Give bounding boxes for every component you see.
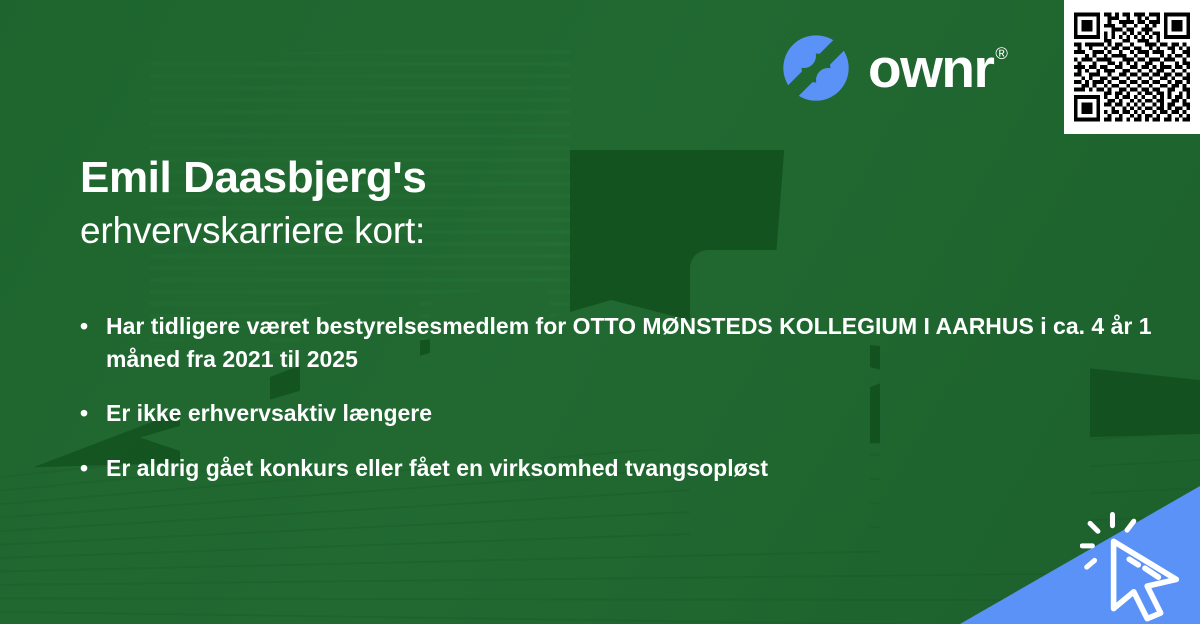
ownr-circular-swirl-logo-icon: [778, 30, 854, 106]
list-item: Er aldrig gået konkurs eller fået en vir…: [78, 452, 1168, 485]
qr-code-icon: [1074, 10, 1190, 124]
registered-mark: ®: [995, 45, 1008, 62]
ownr-wordmark-text: ownr: [868, 41, 993, 96]
list-item: Er ikke erhvervsaktiv længere: [78, 397, 1168, 430]
blue-corner-wedge: [960, 486, 1200, 624]
page-title: Emil Daasbjerg's: [80, 152, 780, 203]
ownr-wordmark: ownr ®: [868, 41, 1008, 96]
business-card-banner: ownr ® Emil Daasbjerg's erhvervskarriere…: [0, 0, 1200, 624]
card-content: ownr ® Emil Daasbjerg's erhvervskarriere…: [0, 0, 1200, 624]
page-subtitle: erhvervskarriere kort:: [80, 209, 780, 253]
career-facts-list: Har tidligere været bestyrelsesmedlem fo…: [78, 310, 1168, 507]
list-item: Har tidligere været bestyrelsesmedlem fo…: [78, 310, 1168, 375]
qr-code-panel[interactable]: [1064, 0, 1200, 134]
headline-block: Emil Daasbjerg's erhvervskarriere kort:: [80, 152, 780, 253]
click-cursor-icon: [1080, 510, 1192, 622]
ownr-logo[interactable]: ownr ®: [778, 30, 1008, 106]
